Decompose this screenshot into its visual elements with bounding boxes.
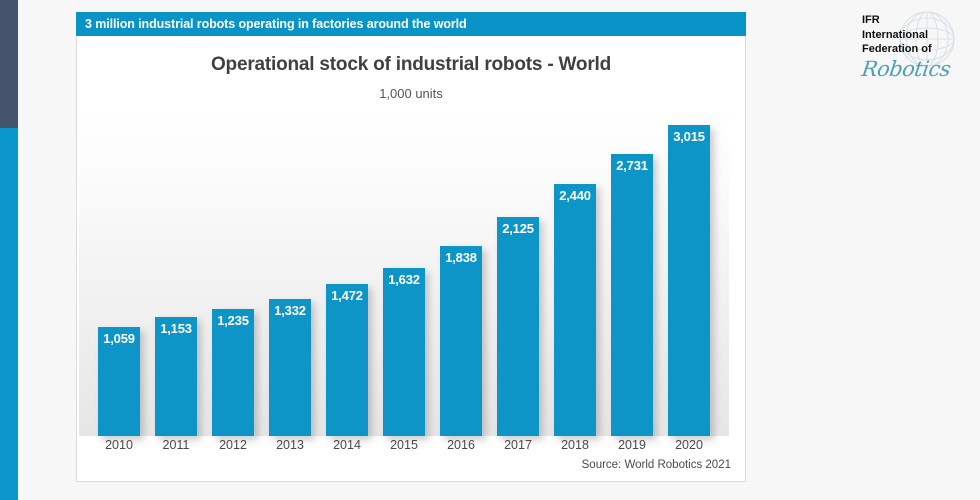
bar-value-label: 1,153 xyxy=(160,321,192,336)
bar-slot: 1,235 xyxy=(212,106,254,436)
x-tick-label: 2015 xyxy=(383,438,425,452)
banner-headline: 3 million industrial robots operating in… xyxy=(85,17,467,31)
bar-slot: 1,059 xyxy=(98,106,140,436)
x-tick-label: 2016 xyxy=(440,438,482,452)
bar-value-label: 2,125 xyxy=(502,221,534,236)
bar-slot: 2,731 xyxy=(611,106,653,436)
ifr-wordmark: IFR International Federation of xyxy=(862,13,932,57)
x-tick-label: 2011 xyxy=(155,438,197,452)
bar[interactable]: 1,472 xyxy=(326,284,368,436)
bar-slot: 2,125 xyxy=(497,106,539,436)
bar-slot: 2,440 xyxy=(554,106,596,436)
bar-slot: 1,632 xyxy=(383,106,425,436)
x-tick-label: 2019 xyxy=(611,438,653,452)
source-note: Source: World Robotics 2021 xyxy=(582,459,731,471)
bar-value-label: 1,472 xyxy=(331,288,363,303)
left-rail-blue-block xyxy=(0,128,18,500)
bar[interactable]: 1,332 xyxy=(269,299,311,436)
x-tick-label: 2018 xyxy=(554,438,596,452)
bar-value-label: 1,332 xyxy=(274,303,306,318)
x-tick-label: 2014 xyxy=(326,438,368,452)
chart-card: Operational stock of industrial robots -… xyxy=(76,36,746,482)
left-decor-rail xyxy=(0,0,18,500)
bar-series: 1,0591,1531,2351,3321,4721,6321,8382,125… xyxy=(98,106,728,436)
plot-area: 1,0591,1531,2351,3321,4721,6321,8382,125… xyxy=(79,106,729,436)
bar-value-label: 2,731 xyxy=(616,158,648,173)
bar[interactable]: 2,440 xyxy=(554,184,596,436)
bar[interactable]: 3,015 xyxy=(668,125,710,436)
x-axis-tick-labels: 2010201120122013201420152016201720182019… xyxy=(98,438,728,452)
chart-title: Operational stock of industrial robots -… xyxy=(77,54,745,76)
x-tick-label: 2017 xyxy=(497,438,539,452)
bar-slot: 1,472 xyxy=(326,106,368,436)
bar[interactable]: 1,838 xyxy=(440,246,482,436)
x-tick-label: 2012 xyxy=(212,438,254,452)
chart-subtitle: 1,000 units xyxy=(77,86,745,101)
ifr-line-3: Federation of xyxy=(862,42,932,57)
bar[interactable]: 2,731 xyxy=(611,154,653,436)
bar[interactable]: 1,632 xyxy=(383,268,425,436)
bar-value-label: 1,632 xyxy=(388,272,420,287)
x-tick-label: 2013 xyxy=(269,438,311,452)
left-rail-navy-block xyxy=(0,0,18,128)
bar-value-label: 2,440 xyxy=(559,188,591,203)
ifr-logo: IFR International Federation of Robotics xyxy=(862,10,972,86)
bar[interactable]: 1,153 xyxy=(155,317,197,436)
slide-banner: 3 million industrial robots operating in… xyxy=(76,12,746,36)
x-tick-label: 2010 xyxy=(98,438,140,452)
bar[interactable]: 1,059 xyxy=(98,327,140,436)
x-tick-label: 2020 xyxy=(668,438,710,452)
bar-value-label: 1,838 xyxy=(445,250,477,265)
ifr-line-2: International xyxy=(862,28,932,43)
ifr-line-1: IFR xyxy=(862,13,932,28)
bar[interactable]: 1,235 xyxy=(212,309,254,436)
bar-slot: 1,153 xyxy=(155,106,197,436)
bar-value-label: 1,235 xyxy=(217,313,249,328)
ifr-script-robotics: Robotics xyxy=(860,57,952,81)
bar-value-label: 1,059 xyxy=(103,331,135,346)
bar-slot: 3,015 xyxy=(668,106,710,436)
bar-value-label: 3,015 xyxy=(673,129,705,144)
bar-slot: 1,332 xyxy=(269,106,311,436)
bar[interactable]: 2,125 xyxy=(497,217,539,436)
slide-card: 3 million industrial robots operating in… xyxy=(76,12,746,482)
bar-slot: 1,838 xyxy=(440,106,482,436)
